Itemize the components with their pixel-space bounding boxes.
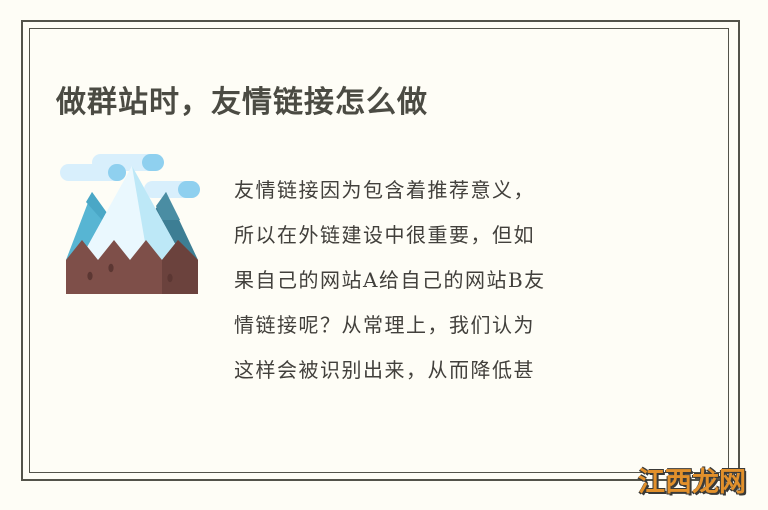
body-line: 情链接呢？从常理上，我们认为	[234, 303, 664, 348]
mountain-illustration-svg	[56, 148, 208, 300]
body-line: 这样会被识别出来，从而降低甚	[234, 348, 664, 393]
article-body: 友情链接因为包含着推荐意义， 所以在外链建设中很重要，但如 果自己的网站A给自己…	[234, 168, 664, 393]
rock-dot	[108, 264, 113, 272]
rock-dot	[87, 272, 92, 280]
watermark: 江西龙网	[638, 469, 746, 496]
body-line: 友情链接因为包含着推荐意义，	[234, 168, 664, 213]
article-card: 做群站时，友情链接怎么做	[0, 0, 768, 510]
body-line: 果自己的网站A给自己的网站B友	[234, 258, 664, 303]
article-content: 友情链接因为包含着推荐意义， 所以在外链建设中很重要，但如 果自己的网站A给自己…	[56, 148, 676, 408]
mountain-illustration	[56, 148, 208, 300]
page-title: 做群站时，友情链接怎么做	[56, 82, 696, 124]
body-line: 所以在外链建设中很重要，但如	[234, 213, 664, 258]
rock-dot	[167, 274, 172, 282]
